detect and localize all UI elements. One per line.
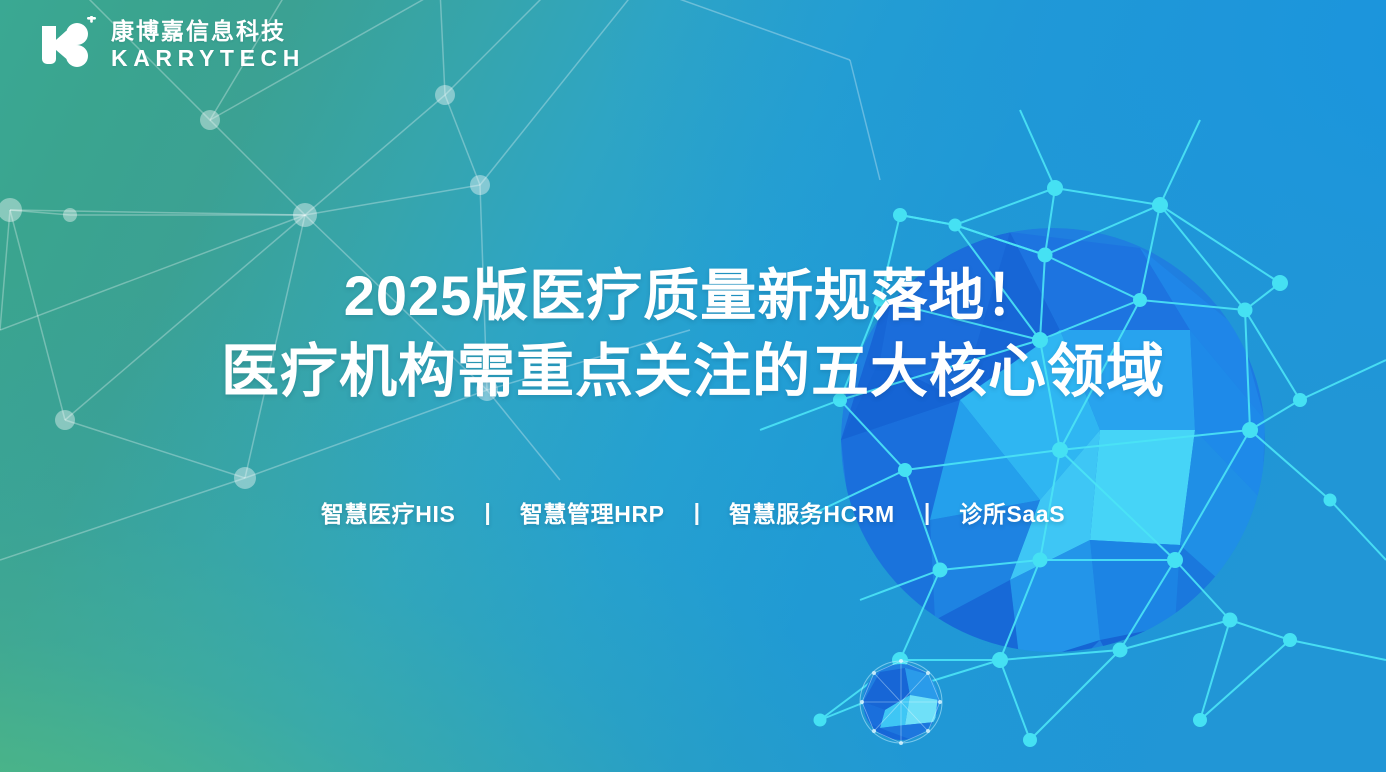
promo-banner: 康博嘉信息科技 KARRYTECH 2025版医疗质量新规落地！ 医疗机构需重点… — [0, 0, 1386, 772]
brand-name-en: KARRYTECH — [111, 47, 305, 70]
product-item-saas[interactable]: 诊所SaaS — [959, 495, 1065, 529]
product-item-hcrm[interactable]: 智慧服务HCRM — [729, 495, 895, 529]
brand-wordmark: 康博嘉信息科技 KARRYTECH — [111, 20, 305, 70]
brand-name-cn: 康博嘉信息科技 — [111, 20, 305, 43]
product-item-hrp[interactable]: 智慧管理HRP — [520, 495, 665, 529]
page-title: 2025版医疗质量新规落地！ 医疗机构需重点关注的五大核心领域 — [0, 258, 1386, 410]
product-item-his[interactable]: 智慧医疗HIS — [321, 495, 456, 529]
product-list: 智慧医疗HIS | 智慧管理HRP | 智慧服务HCRM | 诊所SaaS — [0, 495, 1386, 529]
product-separator: | — [924, 499, 930, 526]
headline-line-2: 医疗机构需重点关注的五大核心领域 — [0, 334, 1386, 410]
headline-line-1: 2025版医疗质量新规落地！ — [0, 258, 1386, 334]
brand-logo[interactable]: 康博嘉信息科技 KARRYTECH — [36, 16, 305, 74]
plus-icon — [87, 16, 96, 23]
product-separator: | — [694, 499, 700, 526]
product-separator: | — [484, 499, 490, 526]
karrytech-k-logo-icon — [36, 16, 98, 74]
